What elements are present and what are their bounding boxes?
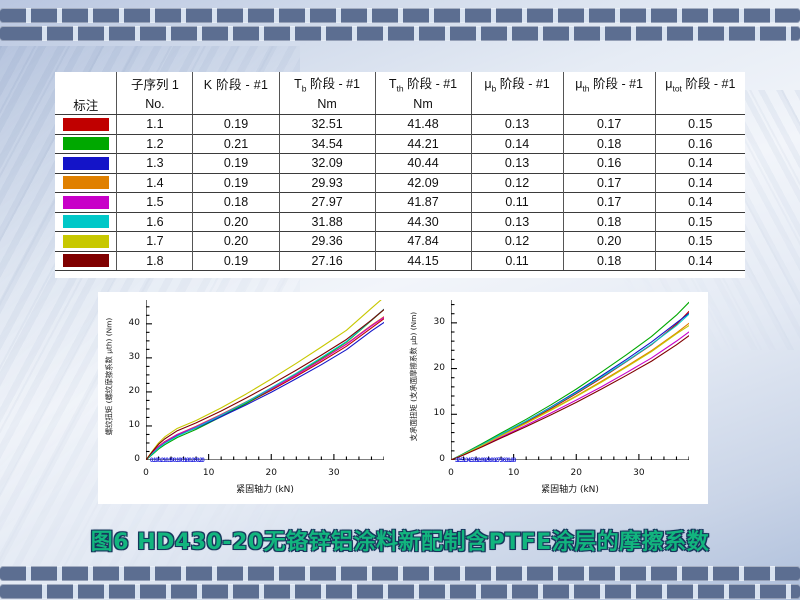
color-swatch [63,235,109,248]
cell-mutot: 0.14 [655,193,745,213]
cell-tb: 32.09 [279,154,375,174]
cell-muth: 0.17 [563,193,655,213]
cell-no: 1.3 [117,154,193,174]
row-color-swatch [55,134,117,154]
table-row: 1.70.2029.3647.840.120.200.15 [55,232,745,252]
table-row: 1.30.1932.0940.440.130.160.14 [55,154,745,174]
cell-mutot: 0.15 [655,115,745,135]
border-row [0,26,800,41]
cell-no: 1.5 [117,193,193,213]
cell-k: 0.19 [193,251,279,271]
cell-tb: 27.16 [279,251,375,271]
x-tick-label: 0 [140,468,152,478]
table-header-top: 子序列 1 K 阶段 - #1 Tb 阶段 - #1 Tth 阶段 - #1 μ… [55,72,745,94]
header-tb-unit: Nm [279,94,375,115]
header-mub-unit [471,94,563,115]
x-axis-label-right: 紧固轴力 (kN) [451,482,689,495]
cell-k: 0.18 [193,193,279,213]
y-tick-label: 10 [421,408,445,418]
y-tick-label: 10 [116,420,140,430]
y-axis-label-left-text: 螺纹扭矩 (螺纹摩擦系数 μth) (Nm) [104,317,115,435]
plot-area-right [451,300,689,460]
color-swatch [63,254,109,267]
x-axis-label-left: 紧固轴力 (kN) [146,482,384,495]
cell-muth: 0.18 [563,251,655,271]
series-line-1.2 [146,310,384,460]
slide-title: 图6 HD430-20无铬锌铝涂料新配制含PTFE涂层的摩擦系数 [0,524,800,556]
border-row [0,584,800,599]
cell-mutot: 0.15 [655,212,745,232]
color-swatch [63,137,109,150]
series-line-1.5 [146,317,384,460]
cell-k: 0.21 [193,134,279,154]
color-swatch [63,176,109,189]
border-row [0,8,800,23]
color-swatch [63,118,109,131]
y-tick-label: 0 [421,454,445,464]
y-tick-label: 30 [116,352,140,362]
cell-tth: 47.84 [375,232,471,252]
cell-muth: 0.17 [563,173,655,193]
header-mub-stage: μb 阶段 - #1 [471,72,563,94]
header-tb-stage: Tb 阶段 - #1 [279,72,375,94]
series-line-1.2 [451,302,689,460]
border-row [0,566,800,581]
y-tick-label: 30 [421,317,445,327]
x-tick-label: 0 [445,468,457,478]
cell-no: 1.7 [117,232,193,252]
row-color-swatch [55,193,117,213]
decorative-bottom-border [0,566,800,600]
y-axis-label-right: 支承面扭矩 (支承面摩擦系数 μb) (Nm) [407,292,421,460]
color-swatch [63,215,109,228]
cell-k: 0.19 [193,115,279,135]
cell-tth: 41.87 [375,193,471,213]
y-tick-label: 20 [116,386,140,396]
cell-mub: 0.13 [471,115,563,135]
y-axis-label-left: 螺纹扭矩 (螺纹摩擦系数 μth) (Nm) [102,292,116,460]
cell-muth: 0.18 [563,212,655,232]
table-row: 1.10.1932.5141.480.130.170.15 [55,115,745,135]
data-table-panel: 子序列 1 K 阶段 - #1 Tb 阶段 - #1 Tth 阶段 - #1 μ… [55,72,745,278]
measurement-table: 子序列 1 K 阶段 - #1 Tb 阶段 - #1 Tth 阶段 - #1 μ… [55,72,745,271]
header-k-unit [193,94,279,115]
cell-k: 0.19 [193,173,279,193]
table-row: 1.50.1827.9741.870.110.170.14 [55,193,745,213]
cell-mutot: 0.14 [655,154,745,174]
cell-muth: 0.20 [563,232,655,252]
cell-tth: 42.09 [375,173,471,193]
cell-tb: 31.88 [279,212,375,232]
row-color-swatch [55,173,117,193]
row-color-swatch [55,154,117,174]
plot-area-left [146,300,384,460]
cell-tth: 44.30 [375,212,471,232]
header-mutot-unit [655,94,745,115]
cell-no: 1.4 [117,173,193,193]
row-color-swatch [55,212,117,232]
cell-k: 0.20 [193,232,279,252]
table-header-sub: 标注 No. Nm Nm [55,94,745,115]
cell-no: 1.1 [117,115,193,135]
row-color-swatch [55,251,117,271]
cell-tth: 44.15 [375,251,471,271]
cell-mub: 0.11 [471,251,563,271]
y-tick-label: 0 [116,454,140,464]
cell-muth: 0.17 [563,115,655,135]
cell-tth: 44.21 [375,134,471,154]
table-body: 1.10.1932.5141.480.130.170.151.20.2134.5… [55,115,745,271]
header-tth-unit: Nm [375,94,471,115]
charts-row: 螺纹扭矩 (螺纹摩擦系数 μth) (Nm) 0.190.210.190.190… [98,292,708,504]
cell-mutot: 0.16 [655,134,745,154]
decorative-top-border [0,8,800,42]
cell-k: 0.19 [193,154,279,174]
cell-no: 1.8 [117,251,193,271]
series-line-1.6 [451,314,689,460]
origin-annotation-left: 0.190.210.190.190.180.200.20 [150,458,204,464]
charts-panel: 螺纹扭矩 (螺纹摩擦系数 μth) (Nm) 0.190.210.190.190… [98,292,708,504]
cell-no: 1.6 [117,212,193,232]
x-tick-label: 10 [508,468,520,478]
header-k-stage: K 阶段 - #1 [193,72,279,94]
chart-thread-torque: 螺纹扭矩 (螺纹摩擦系数 μth) (Nm) 0.190.210.190.190… [98,292,403,504]
origin-annotation-right: 32.5134.5332.0929.9327.9631.88 [455,458,515,464]
cell-tb: 29.36 [279,232,375,252]
series-line-1.1 [451,311,689,460]
cell-mutot: 0.14 [655,173,745,193]
cell-muth: 0.18 [563,134,655,154]
table-row: 1.60.2031.8844.300.130.180.15 [55,212,745,232]
header-muth-unit [563,94,655,115]
color-swatch [63,196,109,209]
table-row: 1.80.1927.1644.150.110.180.14 [55,251,745,271]
cell-mub: 0.12 [471,232,563,252]
cell-tb: 29.93 [279,173,375,193]
cell-mub: 0.14 [471,134,563,154]
header-no: No. [117,94,193,115]
y-tick-label: 40 [116,318,140,328]
chart-bearing-torque: 支承面扭矩 (支承面摩擦系数 μb) (Nm) 32.5134.5332.092… [403,292,708,504]
cell-k: 0.20 [193,212,279,232]
cell-muth: 0.16 [563,154,655,174]
x-tick-label: 30 [633,468,645,478]
y-tick-label: 20 [421,363,445,373]
x-tick-label: 20 [265,468,277,478]
cell-mub: 0.11 [471,193,563,213]
plot-svg-right [451,300,689,460]
cell-tb: 27.97 [279,193,375,213]
header-spacer [55,72,117,94]
cell-tb: 32.51 [279,115,375,135]
x-tick-label: 10 [203,468,215,478]
plot-svg-left [146,300,384,460]
x-tick-label: 20 [570,468,582,478]
series-line-1.8 [146,310,384,460]
cell-tb: 34.54 [279,134,375,154]
color-swatch [63,157,109,170]
header-mutot-stage: μtot 阶段 - #1 [655,72,745,94]
y-axis-label-right-text: 支承面扭矩 (支承面摩擦系数 μb) (Nm) [409,311,420,440]
header-subsequence: 子序列 1 [117,72,193,94]
header-tth-stage: Tth 阶段 - #1 [375,72,471,94]
cell-mub: 0.12 [471,173,563,193]
x-tick-label: 30 [328,468,340,478]
cell-mutot: 0.15 [655,232,745,252]
table-row: 1.20.2134.5444.210.140.180.16 [55,134,745,154]
cell-mub: 0.13 [471,212,563,232]
cell-tth: 41.48 [375,115,471,135]
table-row: 1.40.1929.9342.090.120.170.14 [55,173,745,193]
cell-mub: 0.13 [471,154,563,174]
row-color-swatch [55,115,117,135]
header-marker: 标注 [55,94,117,115]
cell-tth: 40.44 [375,154,471,174]
header-muth-stage: μth 阶段 - #1 [563,72,655,94]
series-line-1.6 [146,309,384,460]
row-color-swatch [55,232,117,252]
cell-no: 1.2 [117,134,193,154]
cell-mutot: 0.14 [655,251,745,271]
